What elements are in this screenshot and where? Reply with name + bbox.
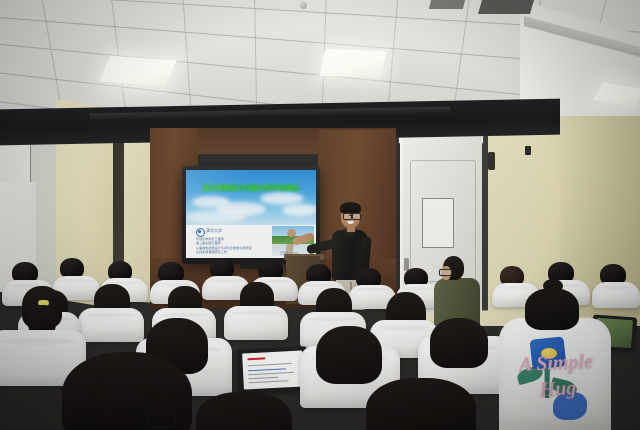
door-sensor-icon (488, 152, 495, 170)
tablet-device[interactable] (237, 346, 309, 394)
seat (592, 282, 640, 308)
wall-sensor-icon (525, 146, 531, 155)
sprinkler-head-icon (300, 2, 307, 9)
presenter-glasses-bridge-icon (349, 215, 353, 216)
green-jacket-glasses-icon (439, 269, 452, 276)
ceiling-vent-icon (478, 0, 534, 14)
glasses-icon (146, 414, 176, 428)
ceiling-light-panel-1 (100, 56, 177, 87)
audience-hair (430, 318, 488, 368)
shirt-text-line2: Hug (511, 376, 604, 404)
presenter-pointing-hand (287, 229, 296, 237)
foreground-head-center (196, 392, 292, 430)
lecture-hall-photo: 高分课程设计过程中的环保理念 清华大学 环境影响评价工程师 第三届全国工程师 从… (0, 0, 640, 430)
tablet-screen[interactable] (242, 350, 304, 389)
seat (78, 308, 144, 342)
ceiling-vent-secondary-icon (429, 0, 465, 9)
door-lattice-insert (422, 198, 454, 248)
foreground-head-right (366, 378, 476, 430)
left-window-grille (0, 140, 31, 182)
ceiling-light-panel-2 (319, 49, 387, 78)
printed-shirt-hair (525, 288, 579, 330)
audience-hair (316, 326, 382, 384)
seat (224, 306, 288, 340)
presenter-glasses-right-icon (352, 213, 361, 220)
printed-shirt-hair-bun (543, 279, 563, 293)
